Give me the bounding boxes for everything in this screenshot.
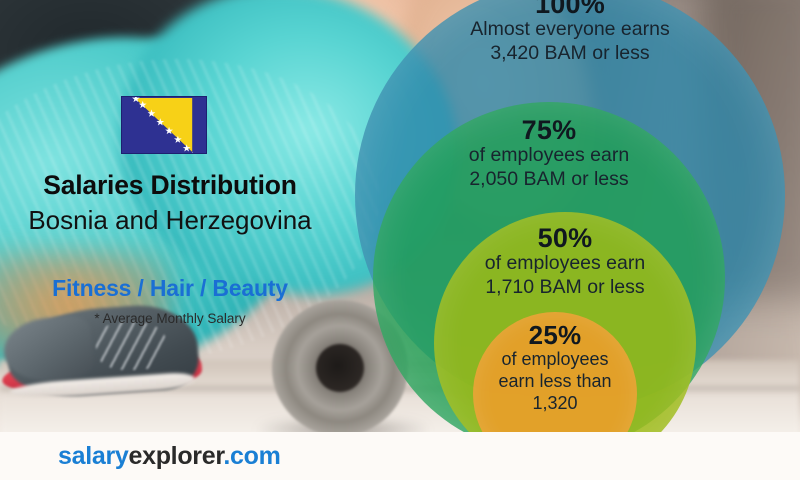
percentile-75-value: 75% (373, 116, 725, 144)
percentile-circle-50-text: 50% of employees earn 1,710 BAM or less (434, 224, 696, 300)
bosnia-and-herzegovina-flag-icon (121, 96, 207, 154)
yoga-mat-core-hole (316, 344, 364, 392)
page-title: Salaries Distribution (0, 170, 340, 201)
brand-part-tld: .com (223, 442, 280, 470)
brand-part-salary: salary (58, 442, 129, 470)
job-category: Fitness / Hair / Beauty (0, 275, 340, 302)
percentile-circle-100-text: 100% Almost everyone earns 3,420 BAM or … (355, 0, 785, 66)
percentile-100-line1: Almost everyone earns (355, 18, 785, 42)
salary-distribution-infographic: Salaries Distribution Bosnia and Herzego… (0, 0, 800, 480)
percentile-50-value: 50% (434, 224, 696, 252)
percentile-50-line1: of employees earn (434, 252, 696, 276)
salary-note: * Average Monthly Salary (0, 311, 340, 326)
site-brand[interactable]: salaryexplorer.com (58, 442, 281, 471)
percentile-25-line2: earn less than (473, 371, 637, 393)
country-name: Bosnia and Herzegovina (0, 205, 340, 236)
percentile-25-line3: 1,320 (473, 393, 637, 415)
percentile-25-value: 25% (473, 322, 637, 349)
percentile-25-line1: of employees (473, 349, 637, 371)
percentile-75-line1: of employees earn (373, 144, 725, 168)
sneaker-laces (96, 322, 166, 370)
flag-stars-icon (122, 97, 206, 153)
percentile-75-line2: 2,050 BAM or less (373, 168, 725, 192)
percentile-circle-25-text: 25% of employees earn less than 1,320 (473, 322, 637, 415)
footer-bar: salaryexplorer.com (0, 432, 800, 480)
percentile-100-value: 100% (355, 0, 785, 18)
percentile-50-line2: 1,710 BAM or less (434, 276, 696, 300)
percentile-circle-75-text: 75% of employees earn 2,050 BAM or less (373, 116, 725, 192)
percentile-100-line2: 3,420 BAM or less (355, 42, 785, 66)
brand-part-explorer: explorer (129, 442, 224, 470)
